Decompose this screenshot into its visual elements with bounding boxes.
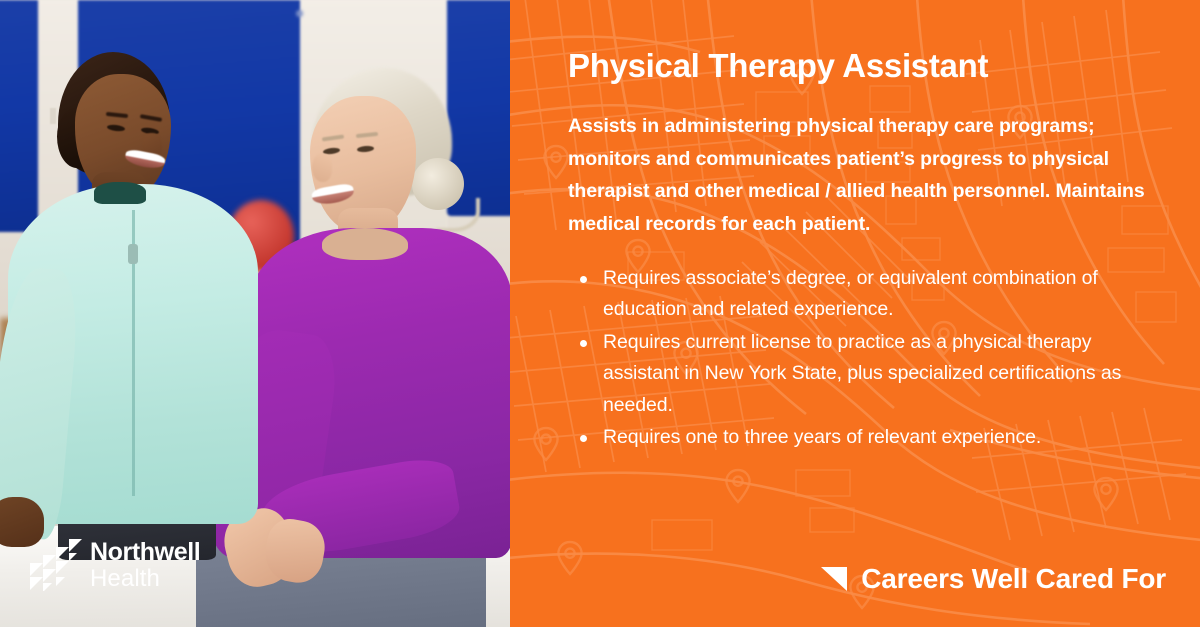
photo-panel: Northwell Health bbox=[0, 0, 510, 627]
copy-panel: Physical Therapy Assistant Assists in ad… bbox=[510, 0, 1200, 627]
logo-name-sub: Health bbox=[90, 567, 200, 591]
door-knob bbox=[296, 10, 303, 17]
patient-nose bbox=[312, 154, 332, 182]
page-title: Physical Therapy Assistant bbox=[568, 48, 1166, 84]
northwell-chevron-triangles-icon bbox=[30, 533, 82, 591]
list-item: Requires one to three years of relevant … bbox=[568, 422, 1158, 454]
assistant-collar bbox=[94, 182, 146, 204]
list-item: Requires current license to practice as … bbox=[568, 327, 1158, 422]
logo-name-main: Northwell bbox=[90, 540, 200, 565]
job-description: Assists in administering physical therap… bbox=[568, 110, 1166, 240]
patient-collar bbox=[322, 228, 408, 260]
blue-door-left bbox=[0, 0, 38, 232]
northwell-health-logo: Northwell Health bbox=[30, 533, 200, 591]
wall-plate bbox=[50, 108, 56, 124]
requirements-list: Requires associate’s degree, or equivale… bbox=[568, 263, 1158, 454]
job-ad-banner: Northwell Health bbox=[0, 0, 1200, 627]
list-item: Requires associate’s degree, or equivale… bbox=[568, 263, 1158, 326]
tagline-text: Careers Well Cared For bbox=[861, 565, 1166, 593]
assistant-zipper-pull bbox=[128, 244, 138, 264]
northwell-wordmark: Northwell Health bbox=[90, 540, 200, 591]
careers-tagline: Careers Well Cared For bbox=[821, 565, 1166, 593]
corner-flag-triangle-icon bbox=[821, 567, 847, 591]
copy-content: Physical Therapy Assistant Assists in ad… bbox=[510, 0, 1200, 627]
